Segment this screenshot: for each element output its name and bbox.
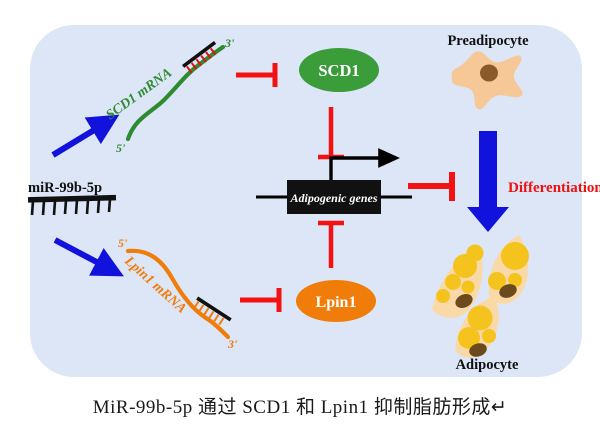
adipogenic-genes-label: Adipogenic genes (290, 191, 378, 205)
lpin1-protein-label: Lpin1 (316, 294, 357, 311)
scd1-protein-label: SCD1 (318, 61, 359, 80)
figure-caption: MiR-99b-5p 通过 SCD1 和 Lpin1 抑制脂肪形成↵ (0, 392, 600, 419)
adipocyte-label: Adipocyte (456, 357, 519, 373)
preadipocyte-label: Preadipocyte (447, 33, 529, 49)
scd1-mrna-5prime: 5' (116, 141, 126, 155)
mirna-label: miR-99b-5p (28, 180, 102, 196)
lpin1-mrna-5prime: 5' (118, 236, 128, 250)
scd1-mrna-3prime: 3' (224, 36, 235, 50)
figure-canvas: miR-99b-5p SCD1 mRNA 5' 3' Lpin1 mRNA 5'… (0, 0, 600, 431)
lpin1-mrna-3prime: 3' (227, 337, 238, 351)
differentiation-label: Differentiation (508, 180, 600, 196)
pathway-diagram: miR-99b-5p SCD1 mRNA 5' 3' Lpin1 mRNA 5'… (0, 0, 600, 431)
